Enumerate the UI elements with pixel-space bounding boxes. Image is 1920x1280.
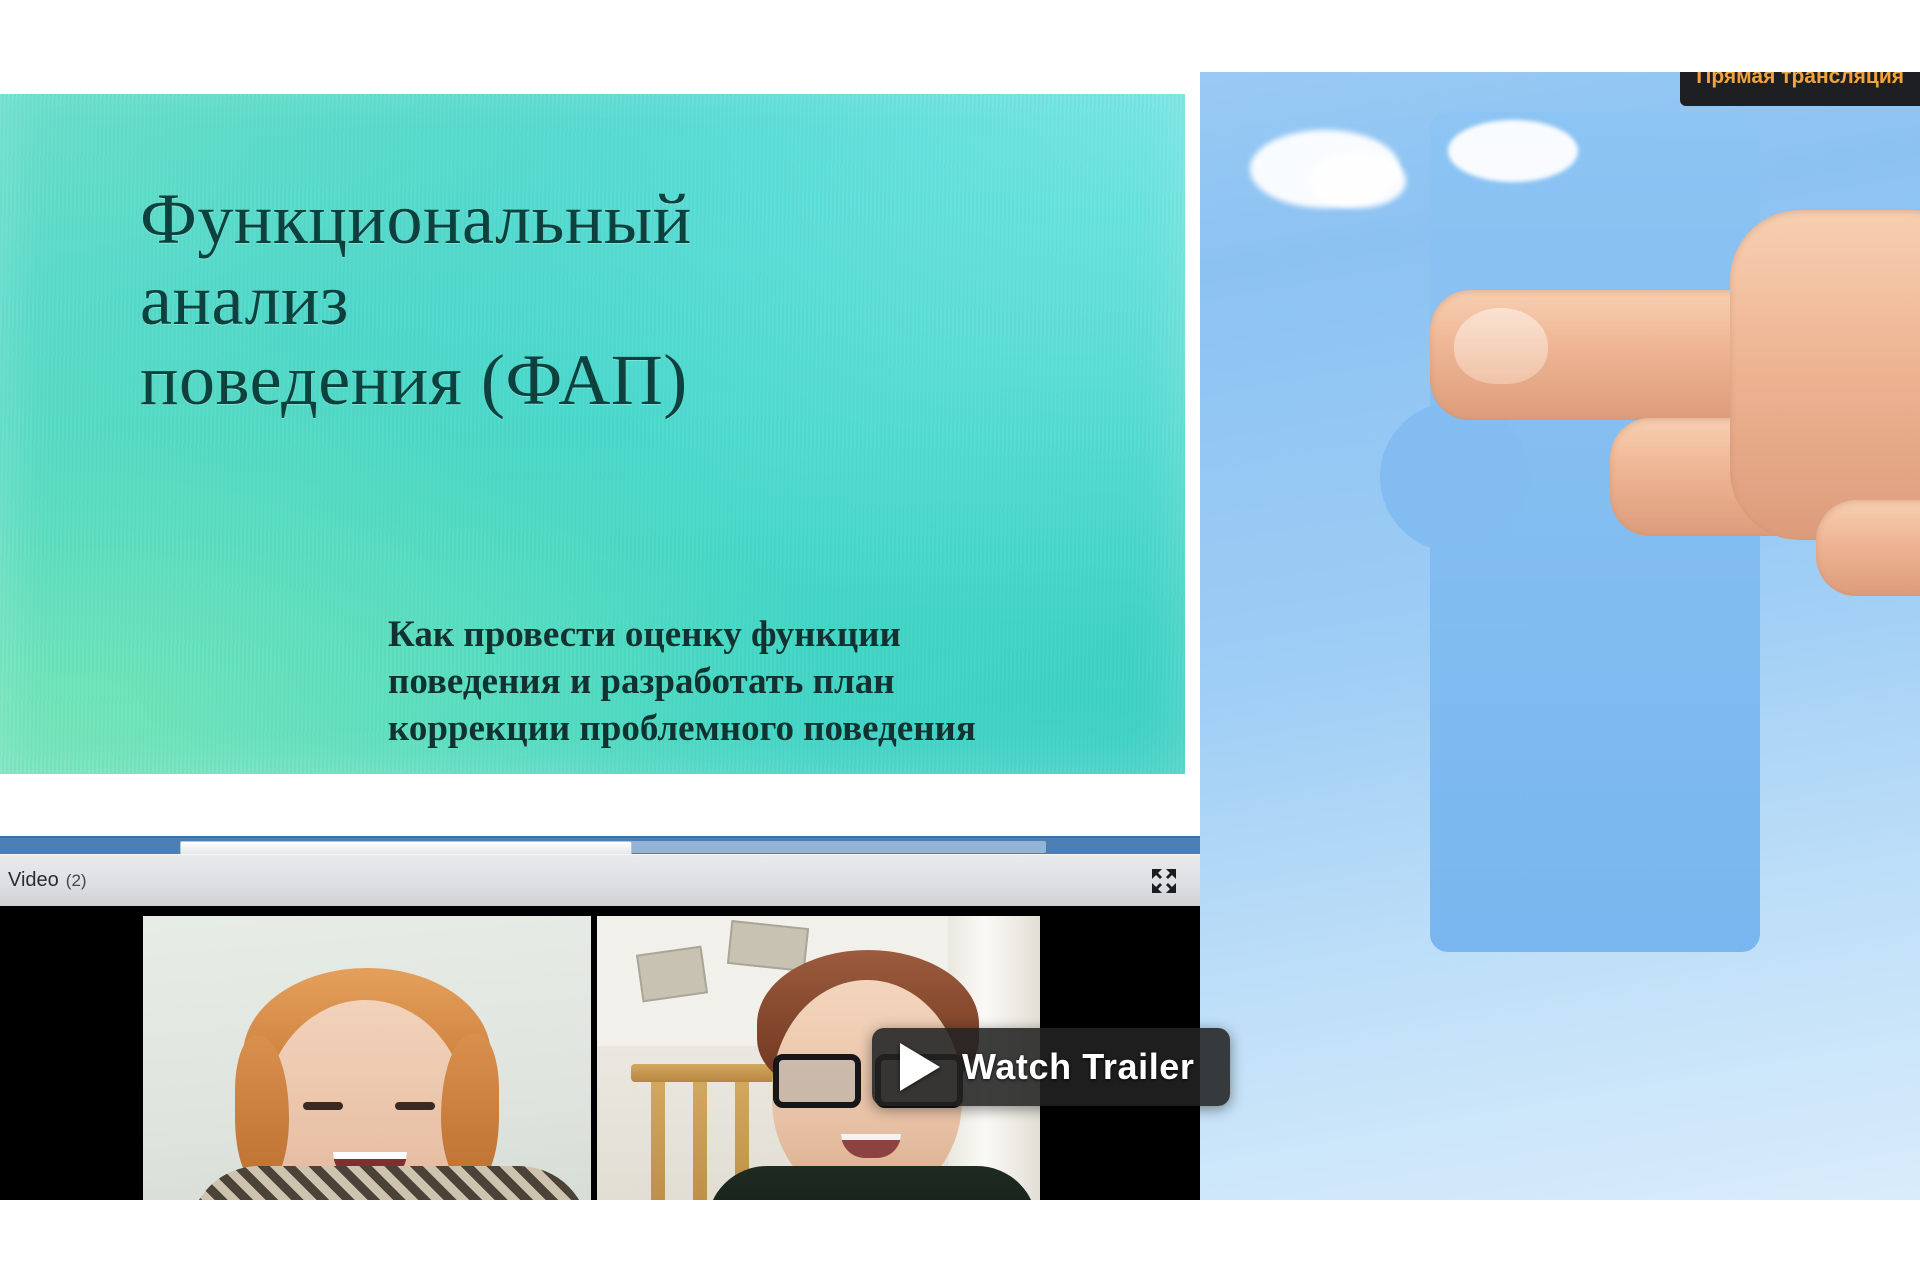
lens-left [773,1054,861,1108]
play-triangle-icon [900,1043,940,1091]
hand-holding-puzzle [1430,182,1920,622]
fullscreen-icon[interactable] [1150,867,1178,895]
thumb [1816,500,1920,596]
wall-picture-1 [636,946,708,1003]
horizontal-scrollbar[interactable] [0,836,1200,856]
presentation-slide: Функциональный анализ поведения (ФАП) Ка… [0,84,1185,774]
slide-paper-edge [0,84,1185,94]
scrollbar-track[interactable] [631,841,1046,853]
letterbox-top [0,0,1920,72]
chair-slat-2 [693,1076,707,1200]
live-stream-label: Прямая трансляция [1696,72,1904,89]
participant-1-video [143,916,591,1200]
palm [1730,210,1920,540]
hair-right [441,1034,499,1186]
screenshot-stage: Функциональный анализ поведения (ФАП) Ка… [0,0,1920,1280]
letterbox-bottom [0,1200,1920,1280]
eye-right [395,1102,435,1110]
video-panel-title-group: Video(2) [8,869,87,892]
torso [707,1166,1037,1200]
slide-title: Функциональный анализ поведения (ФАП) [140,179,1140,421]
video-panel-header: Video(2) [0,854,1200,908]
watch-trailer-label: Watch Trailer [962,1046,1195,1088]
watch-trailer-button[interactable]: Watch Trailer [872,1028,1230,1106]
slide-subtitle: Как провести оценку функции поведения и … [388,612,1148,753]
cloud-2 [1310,154,1406,208]
torso [189,1166,589,1200]
video-panel-count: (2) [66,871,87,890]
live-stream-badge: Прямая трансляция [1680,72,1920,106]
participant-tile-1[interactable]: Olga Meleshkevich [143,916,591,1200]
eye-left [303,1102,343,1110]
video-panel-label: Video [8,869,59,891]
wall-picture-2 [727,920,809,972]
chair-slat-1 [651,1076,665,1200]
cloud-on-piece [1448,120,1578,182]
fingernail [1454,308,1548,384]
scrollbar-thumb[interactable] [180,841,632,855]
